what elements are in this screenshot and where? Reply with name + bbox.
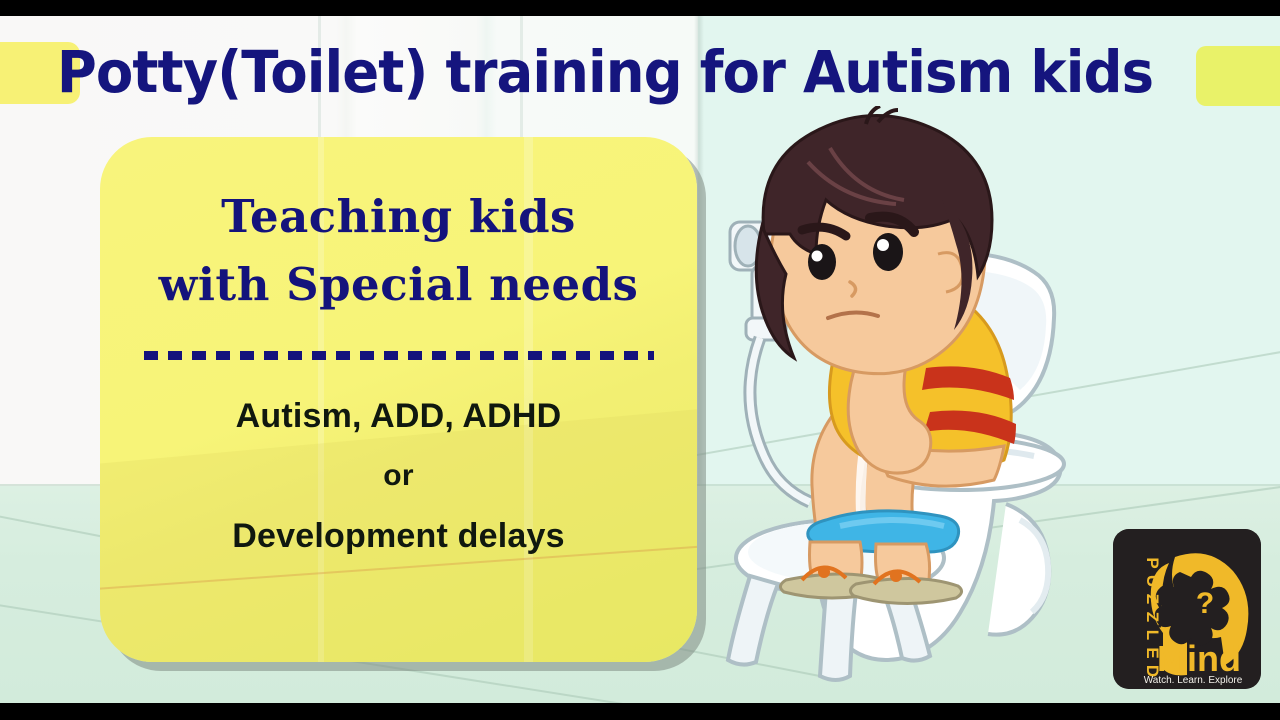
puzzle-question-mark: ?	[1196, 587, 1214, 620]
right-flipflop-toe-post	[890, 570, 902, 582]
card-subline-3: Development delays	[232, 506, 564, 566]
letterbox-bar-top	[0, 0, 1280, 16]
card-headline-line-2: with Special needs	[159, 251, 639, 319]
stool-leg-middle	[820, 590, 856, 680]
scene: Potty(Toilet) training for Autism kids T…	[0, 16, 1280, 703]
page-title: Potty(Toilet) training for Autism kids	[36, 40, 1173, 104]
letterbox-bar-bottom	[0, 703, 1280, 720]
left-flipflop-toe-post	[818, 566, 830, 578]
boy-head	[756, 106, 992, 374]
card-subline-1: Autism, ADD, ADHD	[236, 386, 562, 446]
logo-word-mind: Mind	[1157, 638, 1241, 679]
svg-text:U: U	[1143, 575, 1162, 587]
card-subline-2: or	[383, 446, 413, 506]
logo-tagline: Watch. Learn. Explore	[1144, 675, 1243, 686]
dashed-divider	[144, 351, 654, 360]
toilet-pedestal-curve	[988, 504, 1049, 635]
card-headline-line-1: Teaching kids	[221, 183, 576, 251]
left-eye	[808, 244, 836, 280]
left-eye-highlight	[812, 251, 823, 262]
stool-leg-left	[728, 576, 778, 665]
svg-text:Z: Z	[1143, 612, 1162, 622]
right-eye-highlight	[877, 239, 889, 251]
info-card-content: Teaching kids with Special needs Autism,…	[128, 183, 669, 566]
info-card: Teaching kids with Special needs Autism,…	[100, 137, 697, 662]
right-flipflop-sole	[850, 578, 961, 603]
boy-on-toilet-illustration	[690, 106, 1110, 686]
channel-logo: ? P U Z Z L E D Mind Watch. Learn. Explo…	[1113, 529, 1261, 689]
decor-chip-right	[1196, 46, 1280, 106]
thumbnail-stage: Potty(Toilet) training for Autism kids T…	[0, 0, 1280, 720]
svg-text:Z: Z	[1143, 594, 1162, 604]
right-eye	[873, 233, 903, 271]
svg-text:P: P	[1143, 557, 1162, 568]
